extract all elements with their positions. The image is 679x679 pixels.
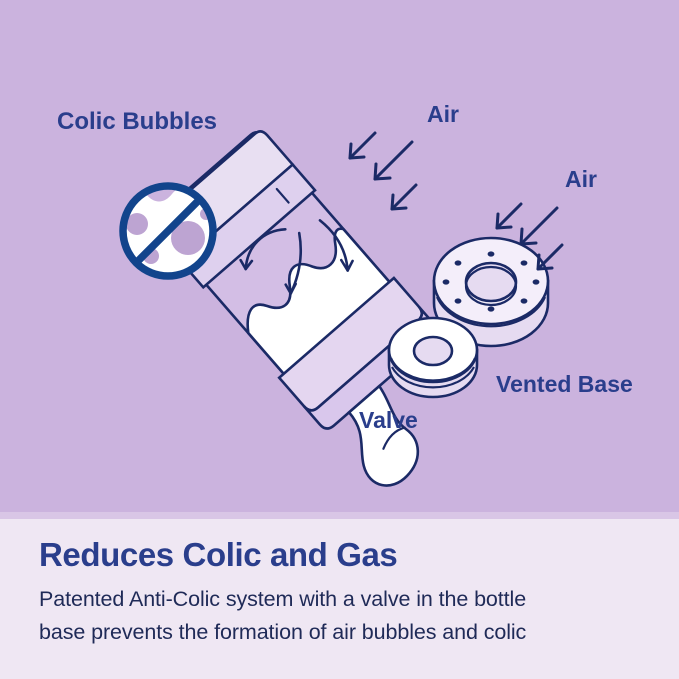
- bottle-diagram-svg: [0, 0, 679, 518]
- label-valve: Valve: [359, 407, 418, 434]
- caption-heading: Reduces Colic and Gas: [39, 536, 397, 574]
- product-feature-infographic: Colic Bubbles Air Air Valve Vented Base …: [0, 0, 679, 679]
- label-vented-base: Vented Base: [496, 371, 633, 398]
- caption-body-line-1: Patented Anti-Colic system with a valve …: [39, 587, 526, 612]
- illustration-panel: Colic Bubbles Air Air Valve Vented Base: [0, 0, 679, 518]
- label-air-left: Air: [427, 101, 459, 128]
- caption-body-line-2: base prevents the formation of air bubbl…: [39, 620, 526, 645]
- caption-panel: Reduces Colic and Gas Patented Anti-Coli…: [0, 519, 679, 679]
- label-colic-bubbles: Colic Bubbles: [57, 108, 217, 136]
- valve-ring-icon: [389, 318, 477, 397]
- air-flow-arrow-icon: [350, 133, 416, 209]
- panel-divider: [0, 512, 679, 519]
- label-air-right: Air: [565, 166, 597, 193]
